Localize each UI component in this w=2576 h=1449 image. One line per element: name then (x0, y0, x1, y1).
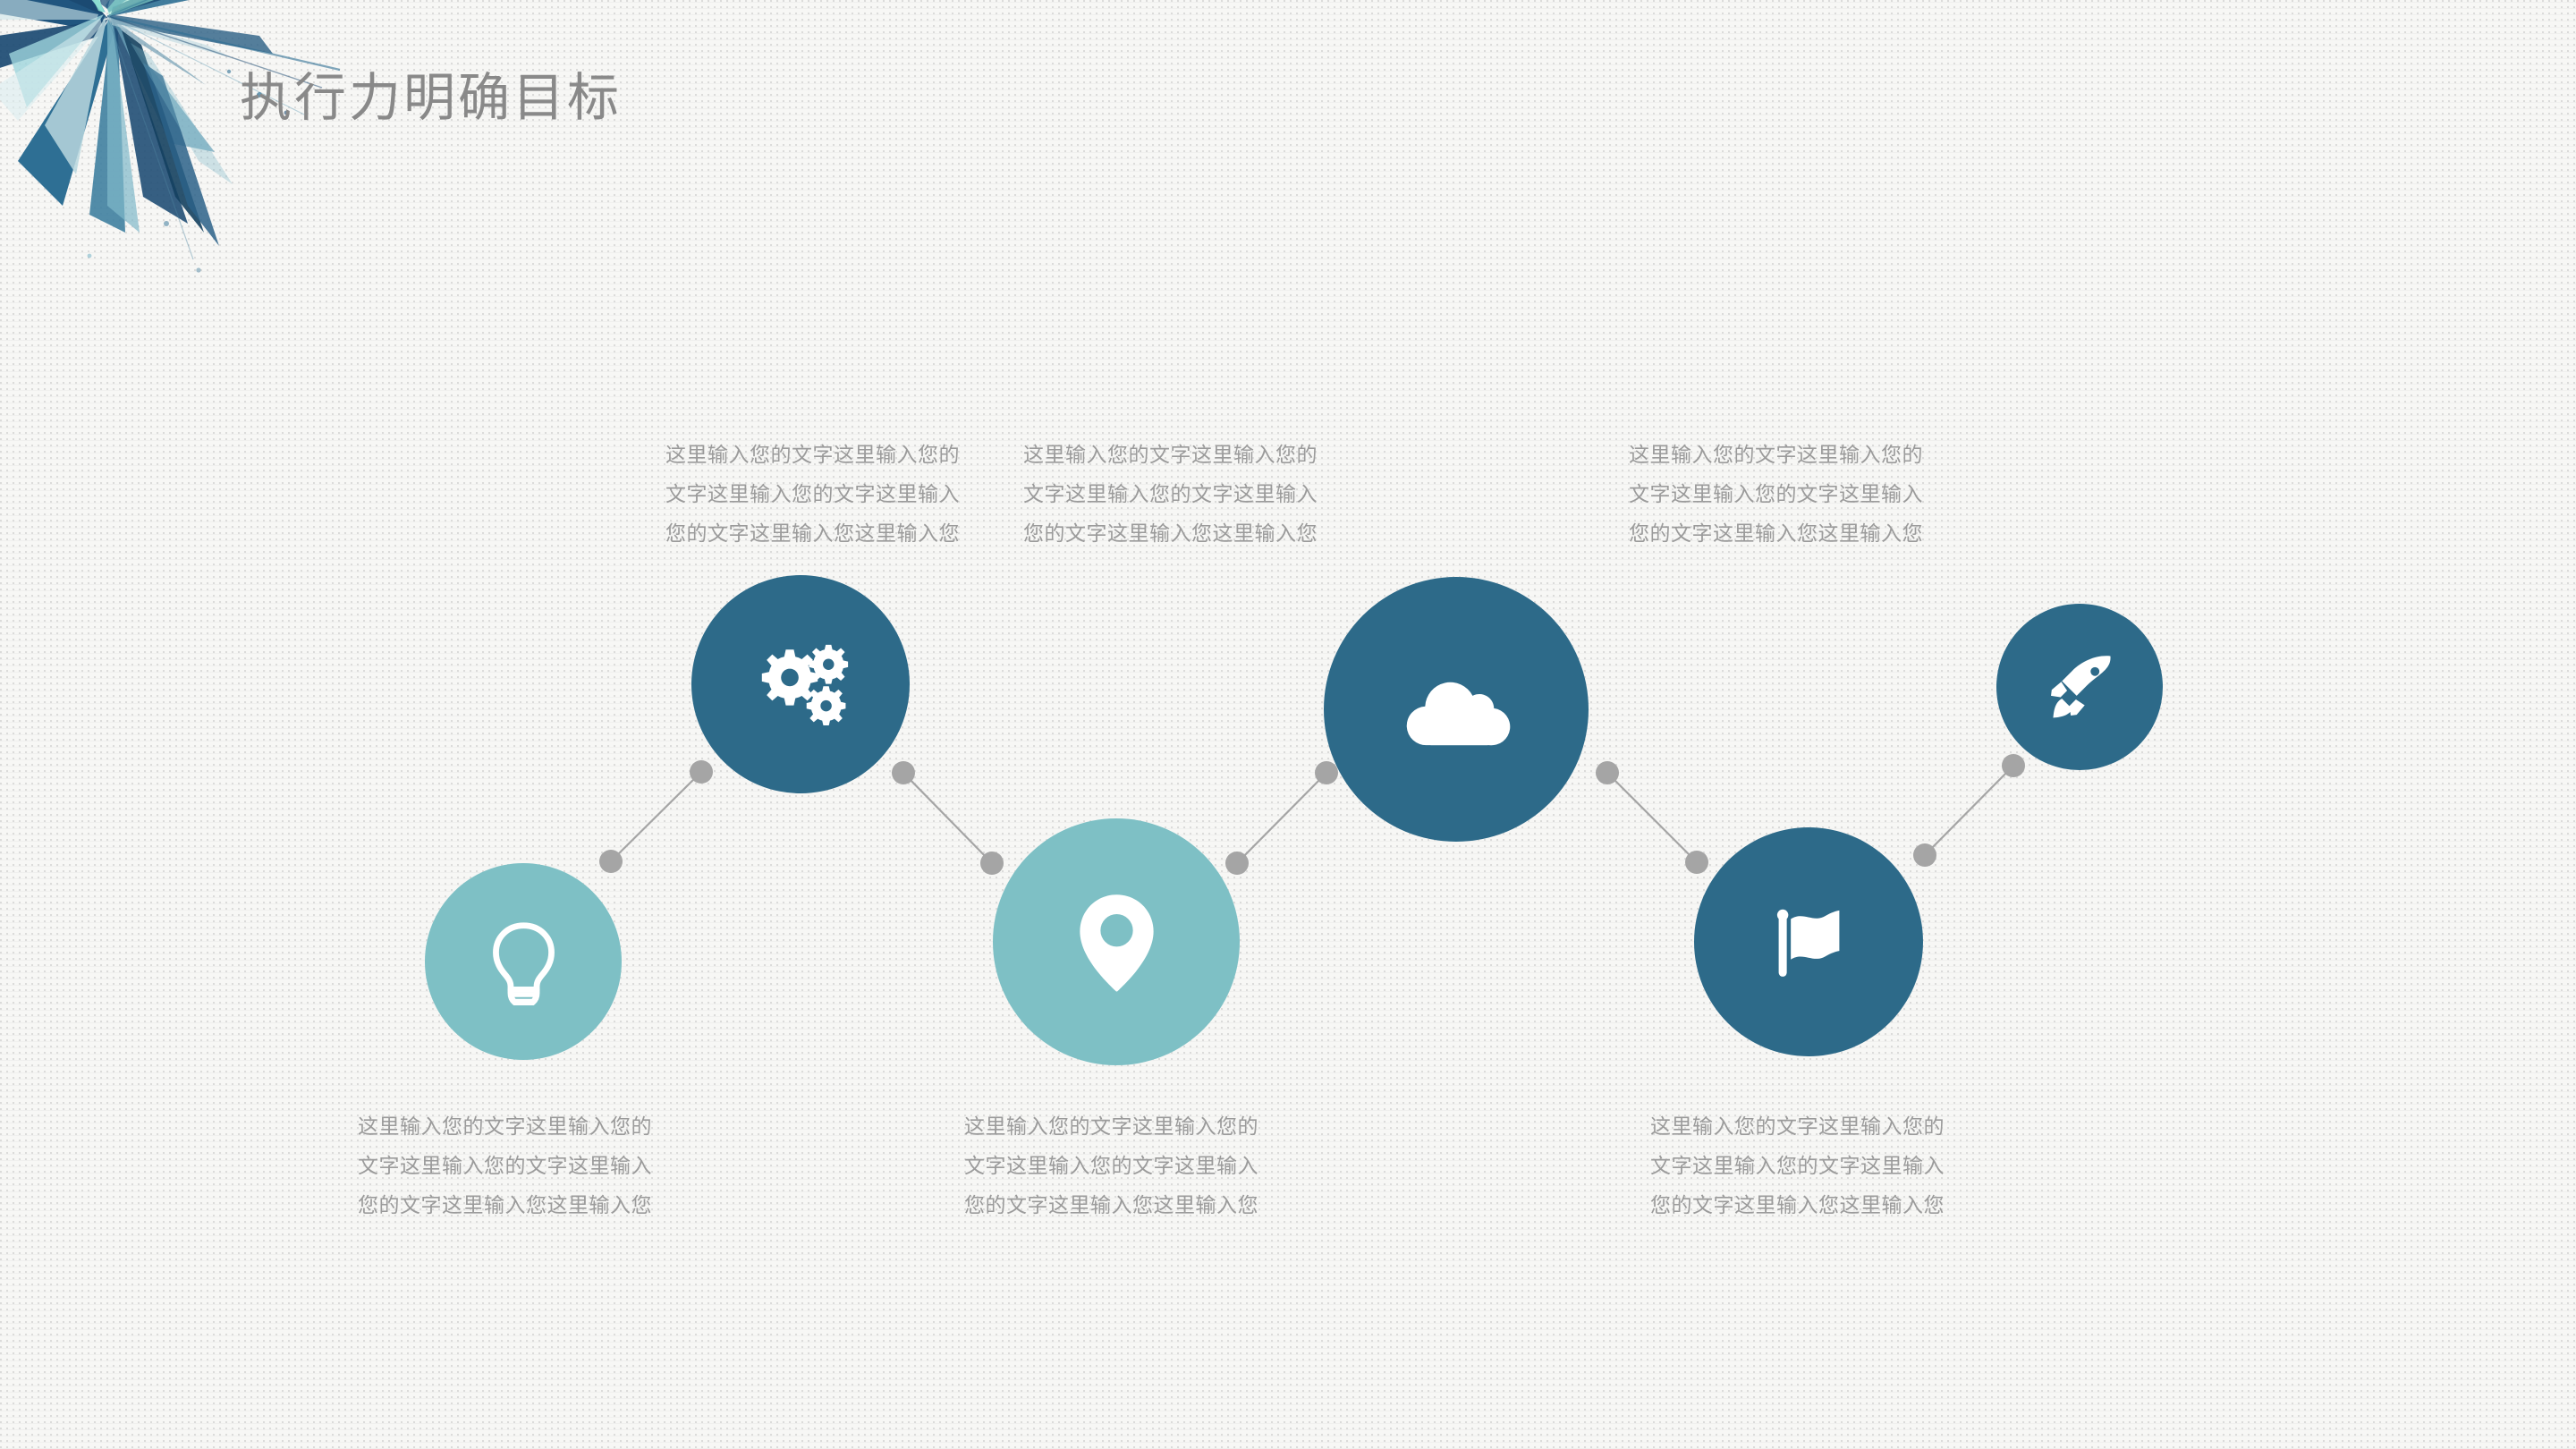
node-goal-caption-line-1: 这里输入您的文字这里输入您的 (1650, 1107, 1945, 1147)
link-1-dot-1 (599, 850, 623, 873)
node-launch-caption: 这里输入您的文字这里输入您的文字这里输入您的文字这里输入您的文字这里输入您这里输… (1629, 436, 1923, 554)
gears-icon (753, 637, 849, 733)
connector-layer (0, 0, 2576, 1449)
node-process-caption-line-2: 文字这里输入您的文字这里输入 (665, 475, 960, 514)
link-1-line (611, 772, 701, 861)
node-launch[interactable] (1996, 604, 2163, 770)
node-launch-caption-line-2: 文字这里输入您的文字这里输入 (1629, 475, 1923, 514)
node-cloud[interactable] (1324, 577, 1589, 842)
node-launch-caption-line-1: 这里输入您的文字这里输入您的 (1629, 436, 1923, 475)
presentation-slide: 执行力明确目标 (0, 0, 2576, 1449)
node-cloud-caption: 这里输入您的文字这里输入您的文字这里输入您的文字这里输入您的文字这里输入您这里输… (1023, 436, 1318, 554)
link-2-dot-2 (980, 852, 1004, 875)
node-launch-caption-line-3: 您的文字这里输入您这里输入您 (1629, 514, 1923, 554)
node-idea-caption-line-1: 这里输入您的文字这里输入您的 (358, 1107, 652, 1147)
node-location-caption-line-3: 您的文字这里输入您这里输入您 (964, 1186, 1258, 1225)
node-location[interactable] (993, 818, 1240, 1065)
page-title: 执行力明确目标 (240, 70, 622, 127)
link-3-line (1237, 773, 1326, 863)
location-pin-icon (1063, 888, 1171, 996)
node-process-caption-line-3: 您的文字这里输入您这里输入您 (665, 514, 960, 554)
node-idea-caption-line-3: 您的文字这里输入您这里输入您 (358, 1186, 652, 1225)
cloud-icon (1398, 651, 1514, 767)
node-goal-caption-line-3: 您的文字这里输入您这里输入您 (1650, 1186, 1945, 1225)
background-line-texture (0, 0, 2576, 1449)
link-3-dot-1 (1225, 852, 1249, 875)
node-cloud-caption-line-2: 文字这里输入您的文字这里输入 (1023, 475, 1318, 514)
node-idea-caption-line-2: 文字这里输入您的文字这里输入 (358, 1147, 652, 1186)
node-location-caption: 这里输入您的文字这里输入您的文字这里输入您的文字这里输入您的文字这里输入您这里输… (964, 1107, 1258, 1225)
link-2-dot-1 (892, 761, 915, 784)
link-4-line (1607, 773, 1697, 862)
link-5-dot-1 (1913, 843, 1936, 867)
link-4-dot-1 (1596, 761, 1619, 784)
flag-icon (1758, 892, 1860, 993)
node-idea[interactable] (425, 863, 622, 1060)
node-location-caption-line-2: 文字这里输入您的文字这里输入 (964, 1147, 1258, 1186)
link-5-dot-2 (2002, 754, 2025, 777)
node-goal-caption: 这里输入您的文字这里输入您的文字这里输入您的文字这里输入您的文字这里输入您这里输… (1650, 1107, 1945, 1225)
link-3-dot-2 (1315, 761, 1338, 784)
link-2-line (903, 773, 992, 863)
link-1-dot-2 (690, 760, 713, 784)
node-goal[interactable] (1694, 827, 1923, 1056)
node-process[interactable] (691, 575, 910, 793)
link-4-dot-2 (1685, 851, 1708, 874)
decorative-burst-graphic (0, 0, 349, 313)
background-dot-texture (0, 0, 2576, 1449)
node-location-caption-line-1: 这里输入您的文字这里输入您的 (964, 1107, 1258, 1147)
node-cloud-caption-line-3: 您的文字这里输入您这里输入您 (1023, 514, 1318, 554)
rocket-icon (2043, 650, 2116, 724)
lightbulb-icon (480, 919, 567, 1005)
node-idea-caption: 这里输入您的文字这里输入您的文字这里输入您的文字这里输入您的文字这里输入您这里输… (358, 1107, 652, 1225)
link-5-line (1925, 766, 2013, 855)
node-process-caption: 这里输入您的文字这里输入您的文字这里输入您的文字这里输入您的文字这里输入您这里输… (665, 436, 960, 554)
node-cloud-caption-line-1: 这里输入您的文字这里输入您的 (1023, 436, 1318, 475)
node-process-caption-line-1: 这里输入您的文字这里输入您的 (665, 436, 960, 475)
node-goal-caption-line-2: 文字这里输入您的文字这里输入 (1650, 1147, 1945, 1186)
